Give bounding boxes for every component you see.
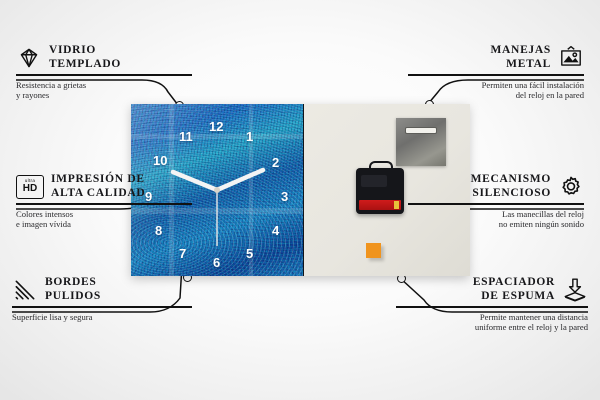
feature-subtitle-line2: y rayones bbox=[16, 90, 192, 101]
feature-impresion-alta-calidad[interactable]: ultra HD IMPRESIÓN DE ALTA CALIDAD Color… bbox=[16, 173, 192, 230]
feature-subtitle-line2: e imagen vívida bbox=[16, 219, 192, 230]
mechanism-detail bbox=[361, 175, 387, 187]
feature-title-line1: MANEJAS bbox=[408, 44, 551, 58]
metal-hanger-part bbox=[396, 118, 446, 166]
feature-divider bbox=[12, 306, 192, 308]
feature-manejas-metal[interactable]: MANEJAS METAL Permiten una fácil instala… bbox=[408, 44, 584, 101]
hanger-slot bbox=[405, 127, 437, 134]
feature-subtitle-line1: Las manecillas del reloj bbox=[408, 209, 584, 220]
feature-subtitle-line1: Permiten una fácil instalación bbox=[408, 80, 584, 91]
foam-spacer-part bbox=[366, 243, 381, 258]
feature-divider bbox=[396, 306, 588, 308]
feature-subtitle-line2: no emiten ningún sonido bbox=[408, 219, 584, 230]
feature-subtitle-line1: Permite mantener una distancia bbox=[396, 312, 588, 323]
feature-subtitle-line2: del reloj en la pared bbox=[408, 90, 584, 101]
diamond-icon bbox=[16, 45, 42, 71]
feature-title-line1: IMPRESIÓN DE bbox=[51, 173, 145, 187]
feature-subtitle-line1: Colores intensos bbox=[16, 209, 192, 220]
feature-divider bbox=[16, 74, 192, 76]
feature-title-line2: SILENCIOSO bbox=[408, 187, 551, 201]
feature-divider bbox=[408, 74, 584, 76]
feature-title-line2: TEMPLADO bbox=[49, 58, 121, 72]
feature-title-line1: VIDRIO bbox=[49, 44, 121, 58]
feature-espaciador-espuma[interactable]: ESPACIADOR DE ESPUMA Permite mantener un… bbox=[396, 276, 588, 333]
feature-title-line1: MECANISMO bbox=[408, 173, 551, 187]
picture-hanger-icon bbox=[558, 45, 584, 71]
feature-title-line2: DE ESPUMA bbox=[396, 290, 555, 304]
feature-divider bbox=[16, 203, 192, 205]
ultra-hd-large-text: HD bbox=[23, 184, 37, 194]
feature-title-line2: METAL bbox=[408, 58, 551, 72]
gear-icon bbox=[558, 174, 584, 200]
battery-part bbox=[359, 200, 401, 210]
feature-subtitle-line1: Superficie lisa y segura bbox=[12, 312, 192, 323]
feature-subtitle-line1: Resistencia a grietas bbox=[16, 80, 192, 91]
mechanism-hook bbox=[369, 161, 393, 173]
feature-vidrio-templado[interactable]: VIDRIO TEMPLADO Resistencia a grietas y … bbox=[16, 44, 192, 101]
feature-mecanismo-silencioso[interactable]: MECANISMO SILENCIOSO Las manecillas del … bbox=[408, 173, 584, 230]
feature-title-line2: PULIDOS bbox=[45, 290, 101, 304]
feature-title-line2: ALTA CALIDAD bbox=[51, 187, 145, 201]
feature-subtitle-line2: uniforme entre el reloj y la pared bbox=[396, 322, 588, 333]
foam-spacer-icon bbox=[562, 277, 588, 303]
feature-title-line1: ESPACIADOR bbox=[396, 276, 555, 290]
feature-divider bbox=[408, 203, 584, 205]
clock-mechanism-part bbox=[356, 168, 404, 214]
ultra-hd-icon: ultra HD bbox=[16, 175, 44, 199]
beveled-edge-icon bbox=[12, 277, 38, 303]
feature-title-line1: BORDES bbox=[45, 276, 101, 290]
infographic-canvas: 12 1 2 3 4 5 6 7 8 9 10 11 bbox=[0, 0, 600, 400]
feature-bordes-pulidos[interactable]: BORDES PULIDOS Superficie lisa y segura bbox=[12, 276, 192, 322]
